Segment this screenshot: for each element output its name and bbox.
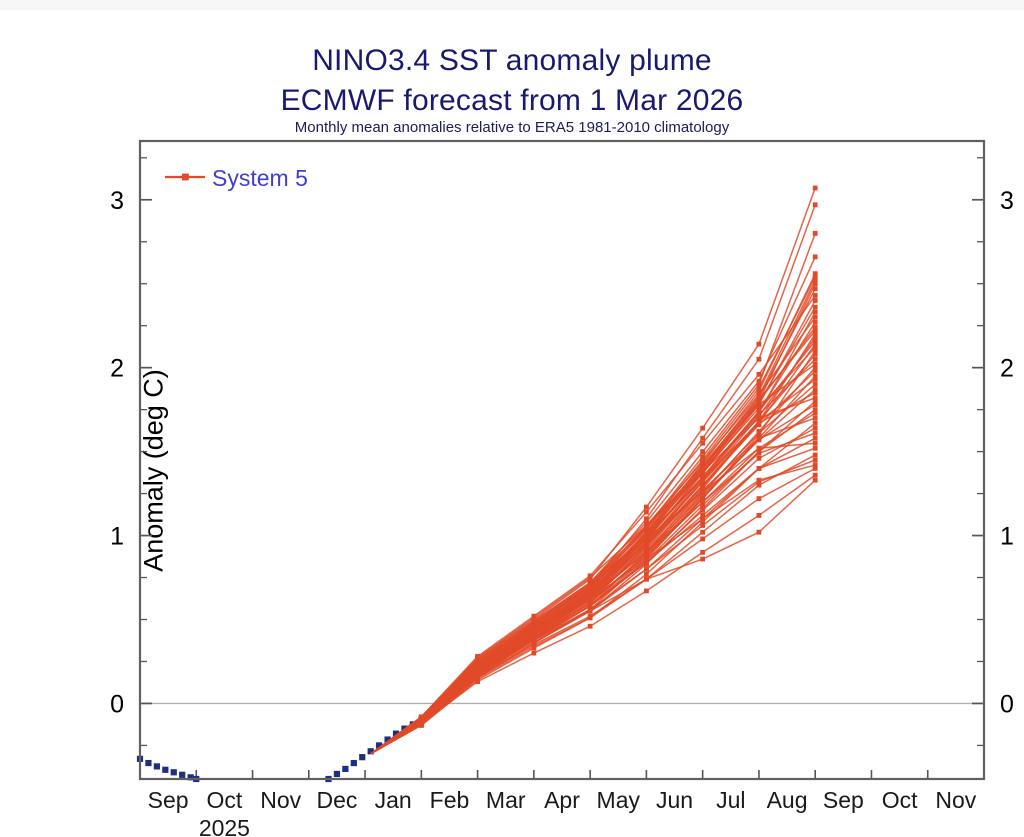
- ensemble-member-marker: [531, 631, 536, 636]
- y-tick-label-right: 0: [1000, 690, 1014, 718]
- ensemble-member-marker: [700, 500, 705, 505]
- ensemble-member-marker: [588, 614, 593, 619]
- x-tick-label: Jul: [716, 787, 745, 813]
- ensemble-member-marker: [813, 352, 818, 357]
- ensemble-member-marker: [644, 572, 649, 577]
- ensemble-member-marker: [813, 382, 818, 387]
- x-tick-label: Nov: [260, 787, 301, 813]
- ensemble-member-marker: [531, 642, 536, 647]
- ensemble-member-marker: [813, 286, 818, 291]
- ensemble-member-marker: [588, 582, 593, 587]
- ensemble-member-marker: [700, 449, 705, 454]
- y-tick-label-right: 3: [1000, 187, 1014, 215]
- ensemble-member-marker: [813, 315, 818, 320]
- ensemble-member-marker: [644, 589, 649, 594]
- ensemble-member-marker: [644, 523, 649, 528]
- y-tick-label-left: 3: [110, 187, 124, 215]
- ensemble-member-marker: [757, 456, 762, 461]
- ensemble-member-marker: [813, 298, 818, 303]
- y-tick-label-right: 1: [1000, 523, 1014, 551]
- ensemble-member-marker: [757, 446, 762, 451]
- observed-marker: [154, 763, 160, 769]
- observed-marker: [359, 754, 365, 760]
- ensemble-member-marker: [813, 453, 818, 458]
- x-tick-label: Oct: [207, 787, 243, 813]
- ensemble-member-marker: [757, 530, 762, 535]
- ensemble-member-marker: [475, 679, 480, 684]
- ensemble-member-marker: [531, 651, 536, 656]
- ensemble-member-marker: [588, 609, 593, 614]
- ensemble-member-marker: [475, 674, 480, 679]
- ensemble-member-marker: [644, 537, 649, 542]
- ensemble-member-marker: [757, 478, 762, 483]
- observed-marker: [342, 766, 348, 772]
- ensemble-member-marker: [813, 416, 818, 421]
- legend-marker-icon: [182, 174, 189, 181]
- ensemble-member-marker: [813, 473, 818, 478]
- x-tick-label: Dec: [316, 787, 357, 813]
- ensemble-member-line: [421, 480, 815, 720]
- observed-marker: [351, 760, 357, 766]
- ensemble-member-marker: [700, 508, 705, 513]
- ensemble-member-marker: [757, 496, 762, 501]
- ensemble-member-marker: [813, 231, 818, 236]
- ensemble-member-marker: [700, 476, 705, 481]
- ensemble-member-marker: [757, 392, 762, 397]
- ensemble-member-marker: [813, 402, 818, 407]
- ensemble-member-line: [421, 465, 815, 722]
- axis-tick-labels-group: 01230123SepOctNovDecJanFebMarAprMayJunJu…: [110, 187, 1014, 837]
- ensemble-member-marker: [475, 659, 480, 664]
- ensemble-member-marker: [644, 505, 649, 510]
- y-tick-label-right: 2: [1000, 355, 1014, 383]
- y-tick-label-left: 1: [110, 523, 124, 551]
- ensemble-member-marker: [813, 369, 818, 374]
- x-tick-label: Sep: [823, 787, 864, 813]
- ensemble-member-line: [421, 295, 815, 716]
- ensemble-member-marker: [700, 530, 705, 535]
- ensemble-member-marker: [700, 523, 705, 528]
- legend[interactable]: System 5: [165, 165, 308, 191]
- ensemble-member-marker: [757, 436, 762, 441]
- ensemble-member-marker: [475, 669, 480, 674]
- ensemble-member-marker: [588, 597, 593, 602]
- ensemble-member-marker: [813, 186, 818, 191]
- y-tick-label-left: 2: [110, 355, 124, 383]
- ensemble-member-marker: [813, 320, 818, 325]
- ensemble-member-marker: [700, 464, 705, 469]
- ensemble-member-marker: [757, 397, 762, 402]
- ensemble-member-marker: [813, 293, 818, 298]
- ensemble-member-marker: [700, 537, 705, 542]
- ensemble-member-marker: [813, 357, 818, 362]
- ensemble-member-marker: [531, 620, 536, 625]
- ensemble-member-marker: [813, 446, 818, 451]
- observed-marker: [179, 772, 185, 778]
- ensemble-member-marker: [813, 202, 818, 207]
- ensemble-member-marker: [813, 411, 818, 416]
- ensemble-member-marker: [813, 305, 818, 310]
- ensemble-member-marker: [588, 624, 593, 629]
- ensemble-member-marker: [644, 567, 649, 572]
- ensemble-member-marker: [531, 615, 536, 620]
- ensemble-member-marker: [813, 281, 818, 286]
- ensemble-member-marker: [757, 357, 762, 362]
- chart-page: NINO3.4 SST anomaly plume ECMWF forecast…: [0, 0, 1024, 837]
- ensemble-member-marker: [813, 441, 818, 446]
- axis-ticks-group: [140, 158, 984, 779]
- x-tick-label: Jan: [375, 787, 412, 813]
- ensemble-member-marker: [644, 577, 649, 582]
- ensemble-member-marker: [813, 310, 818, 315]
- x-tick-label: Aug: [767, 787, 808, 813]
- ensemble-member-line: [421, 280, 815, 718]
- ensemble-member-marker: [588, 602, 593, 607]
- ensemble-member-marker: [757, 379, 762, 384]
- ensemble-member-marker: [813, 426, 818, 431]
- forecast-ensemble-series: [371, 186, 818, 754]
- ensemble-member-marker: [757, 342, 762, 347]
- x-tick-label: Mar: [486, 787, 526, 813]
- ensemble-member-marker: [700, 469, 705, 474]
- x-tick-label: Apr: [544, 787, 580, 813]
- ensemble-member-marker: [757, 385, 762, 390]
- plot-svg: 01230123SepOctNovDecJanFebMarAprMayJunJu…: [0, 0, 1024, 837]
- ensemble-member-marker: [757, 513, 762, 518]
- ensemble-member-marker: [813, 421, 818, 426]
- observed-marker: [171, 769, 177, 775]
- ensemble-member-marker: [644, 550, 649, 555]
- ensemble-member-marker: [644, 557, 649, 562]
- x-tick-label: May: [597, 787, 641, 813]
- ensemble-member-marker: [588, 575, 593, 580]
- ensemble-member-marker: [700, 516, 705, 521]
- ensemble-member-marker: [813, 458, 818, 463]
- ensemble-member-marker: [700, 550, 705, 555]
- ensemble-member-marker: [813, 436, 818, 441]
- ensemble-member-marker: [757, 372, 762, 377]
- x-tick-label: Feb: [430, 787, 470, 813]
- ensemble-member-marker: [588, 589, 593, 594]
- plot-area: 01230123SepOctNovDecJanFebMarAprMayJunJu…: [0, 0, 1024, 837]
- observed-marker: [162, 767, 168, 773]
- ensemble-member-marker: [757, 416, 762, 421]
- plot-frame: [140, 141, 984, 779]
- x-tick-label: Sep: [148, 787, 189, 813]
- ensemble-member-marker: [757, 402, 762, 407]
- ensemble-fan-line: [371, 720, 422, 754]
- ensemble-member-marker: [700, 441, 705, 446]
- y-tick-label-left: 0: [110, 690, 124, 718]
- ensemble-member-marker: [813, 466, 818, 471]
- x-tick-label: Oct: [882, 787, 918, 813]
- ensemble-member-marker: [813, 390, 818, 395]
- ensemble-member-marker: [757, 466, 762, 471]
- x-axis-year-label: 2025: [199, 815, 250, 837]
- x-tick-label: Jun: [656, 787, 693, 813]
- ensemble-member-marker: [757, 421, 762, 426]
- ensemble-member-marker: [700, 490, 705, 495]
- x-tick-label: Nov: [935, 787, 976, 813]
- ensemble-member-marker: [813, 254, 818, 259]
- ensemble-member-marker: [813, 377, 818, 382]
- ensemble-member-marker: [644, 510, 649, 515]
- plot-border: [140, 141, 984, 779]
- observed-marker: [334, 771, 340, 777]
- ensemble-member-marker: [813, 478, 818, 483]
- ensemble-member-marker: [813, 431, 818, 436]
- ensemble-member-marker: [700, 436, 705, 441]
- observed-series: [137, 717, 425, 782]
- ensemble-member-line: [421, 233, 815, 723]
- ensemble-member-marker: [757, 431, 762, 436]
- ensemble-member-marker: [531, 637, 536, 642]
- observed-marker: [145, 760, 151, 766]
- legend-label: System 5: [212, 165, 308, 191]
- ensemble-member-marker: [644, 542, 649, 547]
- ensemble-member-marker: [757, 451, 762, 456]
- ensemble-member-marker: [700, 557, 705, 562]
- ensemble-member-marker: [700, 426, 705, 431]
